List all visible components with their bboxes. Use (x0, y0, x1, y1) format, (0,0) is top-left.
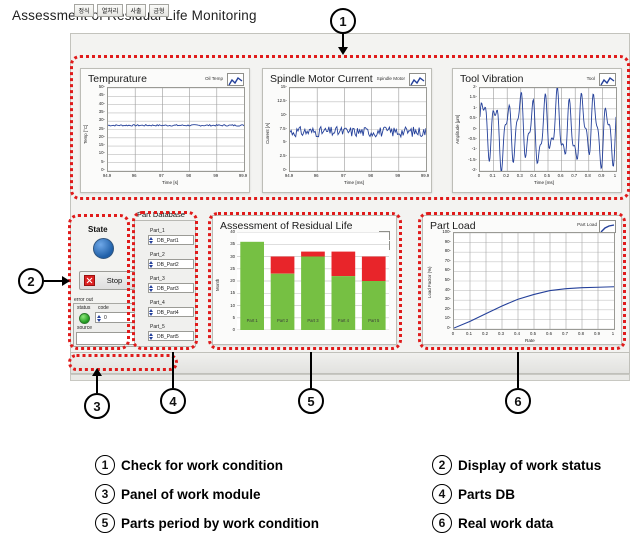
chart-legend-icon[interactable] (599, 73, 616, 86)
bar-category-label: Part 1 (240, 318, 264, 323)
plot-area (453, 232, 615, 330)
x-tick-label: 1 (607, 173, 623, 178)
caption-text: Parts period by work condition (121, 516, 319, 531)
toolbar-button-2[interactable]: 열처리 (97, 4, 123, 17)
y-axis-label: Load Factor (%) (427, 267, 432, 298)
parts-db-item-field[interactable]: DB_Part2 (148, 259, 194, 269)
y-tick-label: 15- (87, 142, 105, 147)
callout-5-leader (310, 352, 312, 388)
chart-legend-label: Tool (587, 76, 595, 81)
bar-category-label: Part 5 (362, 318, 386, 323)
parts-db-item-label: Part_3 (150, 276, 165, 282)
x-tick-label: 98 (181, 173, 197, 178)
parts-db-title: Part Database (137, 210, 185, 219)
chart-legend-icon[interactable] (227, 73, 244, 86)
y-tick-label: 5 (219, 315, 235, 320)
parts-db-spinner-icon[interactable] (149, 333, 153, 340)
y-tick-label: 30 (219, 254, 235, 259)
y-tick-label: 5- (87, 159, 105, 164)
code-label: code (98, 305, 109, 311)
y-tick-label: 40 (219, 229, 235, 234)
y-tick-label: 10 (219, 303, 235, 308)
x-axis-label: Time [ms] (534, 180, 554, 185)
x-tick-label: 94.9 (281, 173, 297, 178)
caption-number: 3 (95, 484, 115, 504)
callout-1-arrow (338, 47, 348, 55)
plot-area (479, 87, 617, 172)
caption-number: 6 (432, 513, 452, 533)
x-tick-label: 99.9 (235, 173, 251, 178)
callout-4-leader (172, 352, 174, 388)
y-tick-label: 0- (459, 126, 477, 131)
plot-area (107, 87, 245, 172)
y-tick-label: 0- (269, 167, 287, 172)
parts-db-item-label: Part_5 (150, 324, 165, 330)
y-tick-label: 70- (433, 258, 451, 263)
x-tick-label: 0.1 (461, 331, 477, 336)
y-tick-label: 40- (87, 101, 105, 106)
y-tick-label: 0 (219, 327, 235, 332)
caption-number: 4 (432, 484, 452, 504)
y-tick-label: 20 (219, 278, 235, 283)
x-tick-label: 97 (335, 173, 351, 178)
chart-tool-vibration: Tool Vibration Tool 2-1.5-1-0.5-0--0.5--… (452, 68, 622, 193)
caption-legend-item: 3Panel of work module (95, 484, 261, 504)
parts-db-item-label: Part_2 (150, 252, 165, 258)
state-caption: State (88, 225, 108, 234)
parts-db-item-label: Part_4 (150, 300, 165, 306)
toolbar-button-3[interactable]: 사출 (126, 4, 146, 17)
callout-6: 6 (505, 388, 531, 414)
x-tick-label: 0.4 (509, 331, 525, 336)
bar-category-label: Part 3 (301, 318, 325, 323)
y-tick-label: 40- (433, 287, 451, 292)
status-led (79, 313, 90, 324)
chart-legend-label: Oil Temp (205, 76, 223, 81)
parts-db-spinner-icon[interactable] (149, 237, 153, 244)
y-tick-label: 30- (87, 117, 105, 122)
caption-legend-item: 5Parts period by work condition (95, 513, 319, 533)
state-led (93, 238, 114, 259)
caption-number: 5 (95, 513, 115, 533)
y-tick-label: 7.5- (269, 126, 287, 131)
y-tick-label: 25 (219, 266, 235, 271)
chart-part-load: Part Load Part Load 0-10-20-30-40-50-60-… (422, 215, 622, 345)
y-axis-label: Current [A] (265, 122, 270, 143)
parts-db-item-field[interactable]: DB_Part4 (148, 307, 194, 317)
code-field[interactable]: 0 (95, 312, 139, 323)
stop-button-label: Stop (95, 276, 134, 285)
x-axis-label: Time [s] (162, 180, 178, 185)
y-tick-label: 10- (433, 315, 451, 320)
y-tick-label: 30- (433, 296, 451, 301)
callout-4: 4 (160, 388, 186, 414)
caption-text: Check for work condition (121, 458, 283, 473)
parts-db-spinner-icon[interactable] (149, 309, 153, 316)
y-tick-label: 20- (433, 306, 451, 311)
source-field[interactable] (76, 332, 139, 345)
y-axis-label: Amplitude [μm] (455, 114, 460, 143)
y-tick-label: -1- (459, 146, 477, 151)
caption-number: 1 (95, 455, 115, 475)
parts-db-item-field[interactable]: DB_Part1 (148, 235, 194, 245)
bar-category-label: Part 4 (332, 318, 356, 323)
y-tick-label: 50- (87, 84, 105, 89)
bar-category-label: Part 2 (271, 318, 295, 323)
chart-legend-icon[interactable] (409, 73, 426, 86)
caption-legend-item: 4Parts DB (432, 484, 515, 504)
caption-text: Panel of work module (121, 487, 261, 502)
callout-1: 1 (330, 8, 356, 34)
plot-area (237, 232, 389, 330)
y-axis-label: Month (215, 279, 220, 291)
x-tick-label: 99 (390, 173, 406, 178)
chart-legend-label: Part Load (577, 222, 597, 227)
code-value: 0 (104, 313, 107, 324)
x-tick-label: 99.9 (417, 173, 433, 178)
caption-text: Parts DB (458, 487, 515, 502)
x-tick-label: 1 (605, 331, 621, 336)
work-module-toolbar (70, 352, 630, 374)
y-tick-label: 50- (433, 277, 451, 282)
y-tick-label: 0.5- (459, 115, 477, 120)
source-label: source (77, 325, 92, 331)
callout-3-leader (96, 374, 98, 393)
x-tick-label: 0.2 (477, 331, 493, 336)
caption-legend-item: 1Check for work condition (95, 455, 283, 475)
y-tick-label: 60- (433, 267, 451, 272)
parts-db-item-field[interactable]: DB_Part3 (148, 283, 194, 293)
x-tick-label: 98 (363, 173, 379, 178)
x-tick-label: 0.8 (573, 331, 589, 336)
toolbar-button-1[interactable]: 정식 (74, 4, 94, 17)
parts-db-item-label: Part_1 (150, 228, 165, 234)
y-tick-label: -0.5- (459, 136, 477, 141)
x-tick-label: 0.9 (589, 331, 605, 336)
callout-2-leader (44, 280, 64, 282)
caption-legend-item: 2Display of work status (432, 455, 601, 475)
y-tick-label: 0- (433, 325, 451, 330)
y-tick-label: -1.5- (459, 157, 477, 162)
y-axis-label: Temp [°C] (83, 124, 88, 143)
toolbar-button-4[interactable]: 금형 (149, 4, 169, 17)
y-tick-label: 10- (269, 112, 287, 117)
chart-temperature: Tempurature Oil Temp 50-45-40-35-30-25-2… (80, 68, 250, 193)
y-tick-label: 20- (87, 134, 105, 139)
callout-3: 3 (84, 393, 110, 419)
x-tick-label: 0.6 (541, 331, 557, 336)
parts-db-spinner-icon[interactable] (149, 285, 153, 292)
y-tick-label: 80- (433, 248, 451, 253)
y-tick-label: 0- (87, 167, 105, 172)
y-tick-label: 15- (269, 84, 287, 89)
x-tick-label: 97 (153, 173, 169, 178)
status-label: status (77, 305, 90, 311)
y-tick-label: 10- (87, 150, 105, 155)
x-tick-label: 96 (126, 173, 142, 178)
x-tick-label: 0.5 (525, 331, 541, 336)
y-tick-label: 35 (219, 241, 235, 246)
y-tick-label: 12.5- (269, 98, 287, 103)
stop-button[interactable]: Stop (79, 271, 135, 290)
y-tick-label: 1- (459, 105, 477, 110)
y-tick-label: 35- (87, 109, 105, 114)
y-tick-label: 90- (433, 239, 451, 244)
caption-text: Real work data (458, 516, 553, 531)
callout-3-arrow (92, 368, 102, 376)
y-tick-label: 2.5- (269, 153, 287, 158)
chart-legend-label: Spindle Motor (377, 76, 405, 81)
y-tick-label: 1.5- (459, 94, 477, 99)
horizontal-scrollbar[interactable] (70, 374, 630, 381)
callout-2-arrow (62, 276, 70, 286)
stop-icon (84, 275, 95, 286)
caption-text: Display of work status (458, 458, 601, 473)
y-tick-label: 100- (433, 229, 451, 234)
x-tick-label: 0.7 (557, 331, 573, 336)
y-tick-label: 15 (219, 290, 235, 295)
chart-title: Assessment of Residual Life (220, 220, 352, 232)
y-tick-label: -2- (459, 167, 477, 172)
x-tick-label: 99 (208, 173, 224, 178)
caption-legend-item: 6Real work data (432, 513, 553, 533)
callout-2: 2 (18, 268, 44, 294)
parts-db-item-field[interactable]: DB_Part5 (148, 331, 194, 341)
x-tick-label: 96 (308, 173, 324, 178)
plot-area (289, 87, 427, 172)
y-tick-label: 5- (269, 139, 287, 144)
x-axis-label: Time [ms] (344, 180, 364, 185)
x-tick-label: 0.3 (493, 331, 509, 336)
callout-6-leader (517, 352, 519, 388)
callout-5: 5 (298, 388, 324, 414)
caption-number: 2 (432, 455, 452, 475)
parts-db-spinner-icon[interactable] (149, 261, 153, 268)
x-tick-label: 0 (445, 331, 461, 336)
x-tick-label: 94.9 (99, 173, 115, 178)
chart-spindle-motor-current: Spindle Motor Current Spindle Motor 15-1… (262, 68, 432, 193)
y-tick-label: 2- (459, 84, 477, 89)
x-axis-label: Rate (525, 338, 535, 343)
chart-residual-life: Assessment of Residual Life Residual Lif… (212, 215, 397, 345)
y-tick-label: 25- (87, 126, 105, 131)
y-tick-label: 45- (87, 92, 105, 97)
